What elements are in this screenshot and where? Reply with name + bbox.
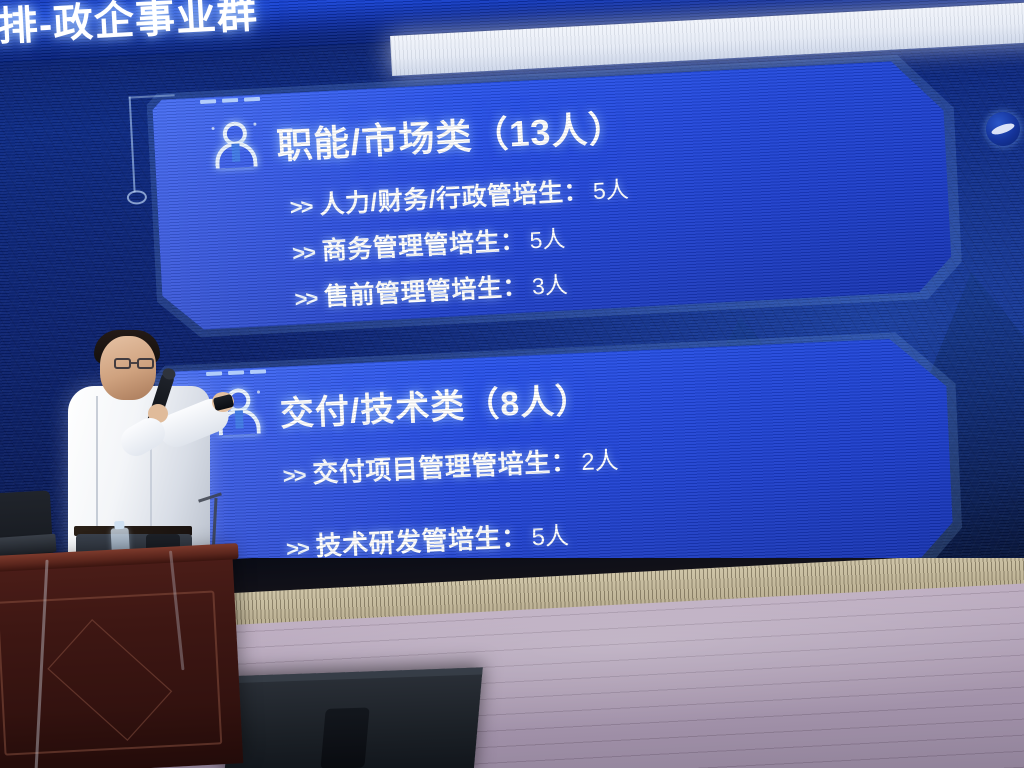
bullet-count: 5人 bbox=[531, 516, 570, 553]
chevron-marker: >> bbox=[282, 463, 305, 490]
list-item: >> 售前管理管培生： 3人 bbox=[294, 261, 635, 315]
bullet-label: 人力/财务/行政管培生： bbox=[318, 171, 589, 221]
card-title-2: 交付/技术类（8人） bbox=[279, 372, 591, 435]
bullet-label: 技术研发管培生： bbox=[315, 517, 528, 564]
dark-wood-podium bbox=[0, 553, 243, 768]
bullet-count: 3人 bbox=[531, 266, 569, 302]
presentation-photo-scene: 招安排-政企事业群 职能/市场类（13人） >> 人力/财务/行政管培 bbox=[0, 0, 1024, 768]
bullet-label: 售前管理管培生： bbox=[323, 267, 529, 314]
card-bullet-list-1: >> 人力/财务/行政管培生： 5人 >> 商务管理管培生： 5人 >> 售前管… bbox=[289, 169, 635, 325]
card-header-2: 交付/技术类（8人） bbox=[215, 371, 591, 440]
card-title-1: 职能/市场类（13人） bbox=[275, 99, 626, 169]
chevron-marker: >> bbox=[289, 194, 312, 221]
glasses bbox=[114, 358, 156, 369]
company-circle-logo bbox=[985, 111, 1021, 147]
bullet-count: 5人 bbox=[592, 170, 630, 206]
card-header-1: 职能/市场类（13人） bbox=[211, 99, 626, 173]
list-item: >> 交付项目管理管培生： 2人 bbox=[282, 439, 619, 491]
bullet-count: 2人 bbox=[580, 440, 619, 477]
chevron-marker: >> bbox=[292, 240, 315, 267]
bullet-count: 5人 bbox=[529, 220, 567, 256]
person-icon bbox=[211, 119, 260, 173]
slide-card-delivery-technical: 交付/技术类（8人） >> 交付项目管理管培生： 2人 >> 技术研发管培生： … bbox=[160, 336, 954, 591]
list-item: >> 人力/财务/行政管培生： 5人 bbox=[289, 169, 630, 223]
slide-card-functional-market: 职能/市场类（13人） >> 人力/财务/行政管培生： 5人 >> 商务管理管培… bbox=[152, 59, 953, 332]
list-item: >> 技术研发管培生： 5人 bbox=[285, 512, 622, 564]
list-item: >> 商务管理管培生： 5人 bbox=[291, 215, 632, 269]
bullet-label: 商务管理管培生： bbox=[321, 221, 527, 268]
black-stage-speaker bbox=[223, 667, 483, 768]
bullet-label: 交付项目管理管培生： bbox=[312, 441, 578, 490]
chevron-marker: >> bbox=[294, 286, 317, 313]
